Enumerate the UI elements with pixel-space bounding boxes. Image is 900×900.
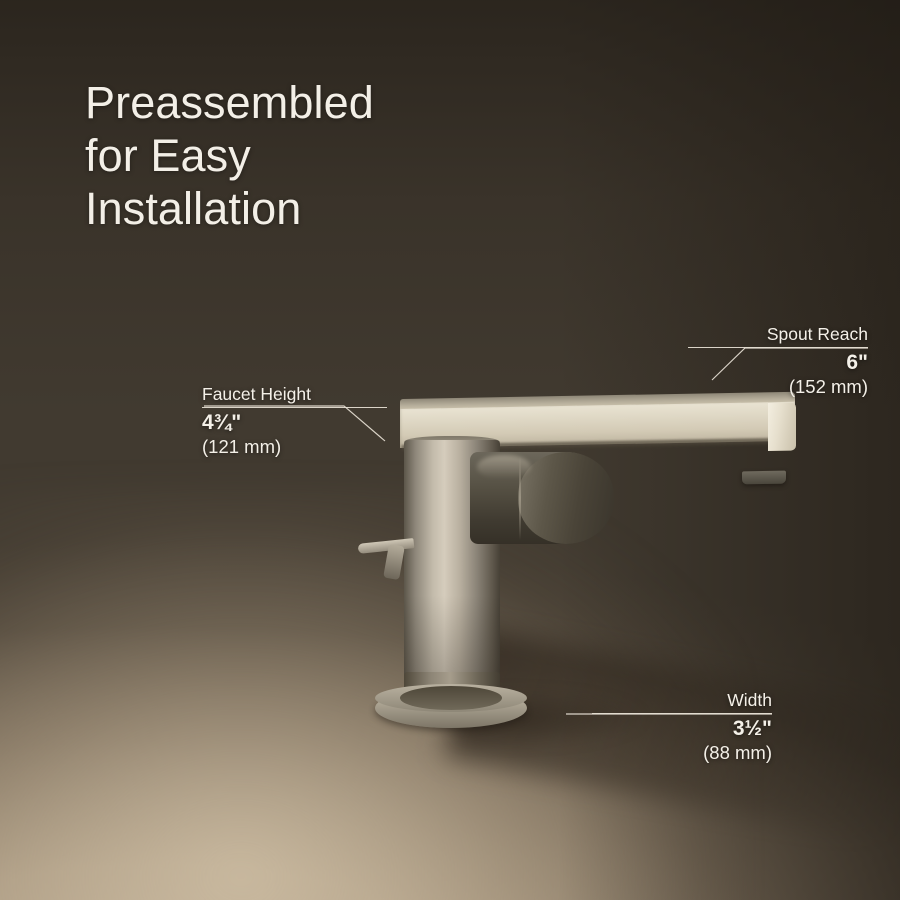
- base-escutcheon-inner-ring: [400, 686, 502, 710]
- callout-width: Width 3½" (88 mm): [592, 690, 772, 764]
- callout-spout-reach: Spout Reach 6" (152 mm): [688, 324, 868, 398]
- callout-width-label: Width: [592, 690, 772, 711]
- callout-width-metric: (88 mm): [592, 741, 772, 764]
- handle-cylinder[interactable]: [518, 452, 614, 544]
- spout-aerator: [742, 471, 786, 485]
- callout-faucet-height-metric: (121 mm): [202, 435, 387, 458]
- callout-faucet-height-label: Faucet Height: [202, 384, 387, 405]
- handle-highlight: [477, 455, 531, 479]
- callout-spout-reach-value: 6": [688, 350, 868, 375]
- callout-faucet-height-rule: [202, 407, 387, 408]
- callout-width-rule: [592, 713, 772, 714]
- callout-spout-reach-label: Spout Reach: [688, 324, 868, 345]
- callout-faucet-height: Faucet Height 4¾" (121 mm): [202, 384, 387, 458]
- callout-spout-reach-rule: [688, 347, 868, 348]
- product-dimension-graphic: Preassembled for Easy Installation Fauce…: [0, 0, 900, 900]
- faucet-product-image: [0, 0, 900, 900]
- callout-spout-reach-metric: (152 mm): [688, 375, 868, 398]
- spout-end-cap: [768, 402, 796, 451]
- callout-width-value: 3½": [592, 716, 772, 741]
- callout-faucet-height-value: 4¾": [202, 410, 387, 435]
